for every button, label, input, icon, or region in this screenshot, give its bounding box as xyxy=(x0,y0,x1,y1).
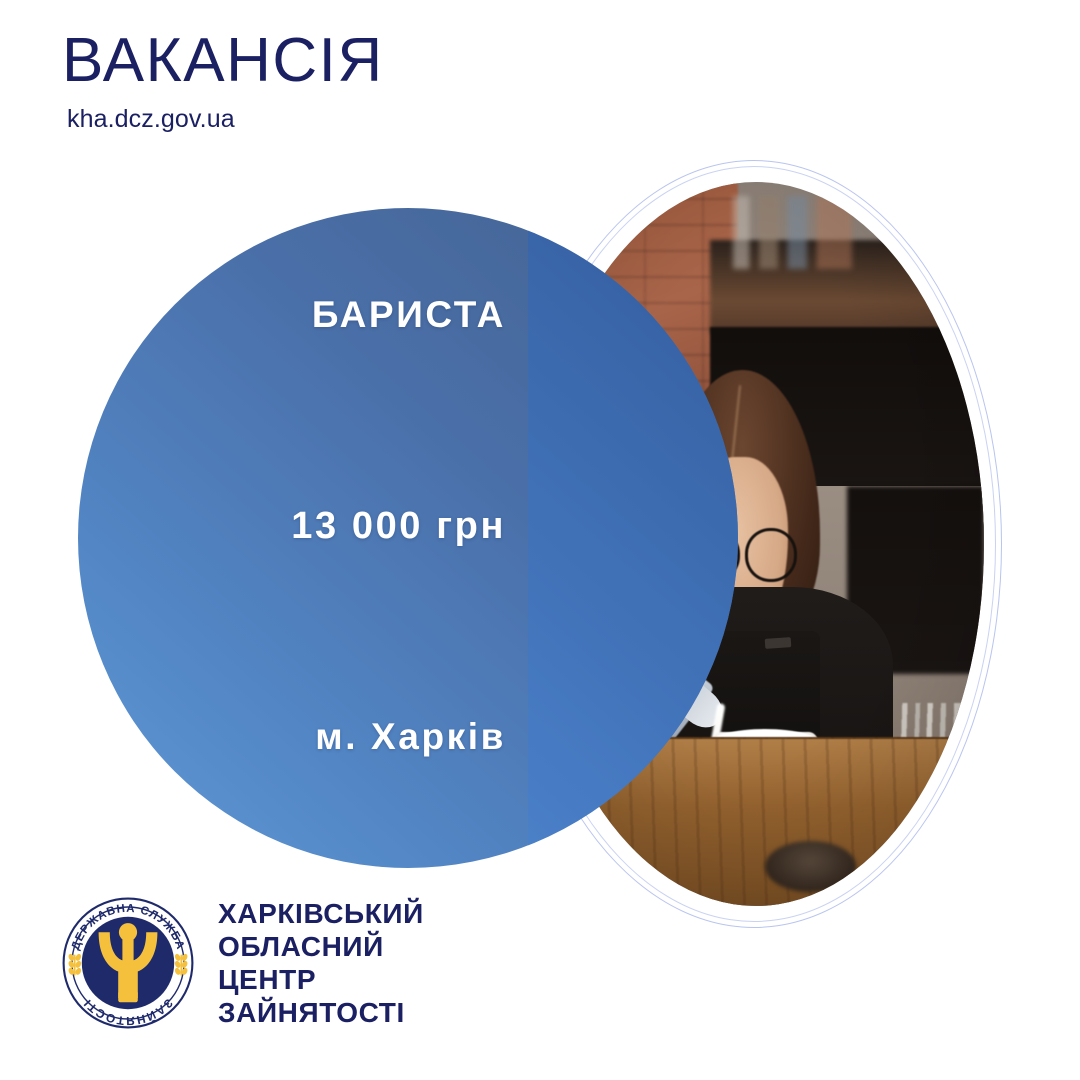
page-title: ВАКАНСІЯ xyxy=(62,28,384,93)
org-line-3: ЦЕНТР xyxy=(218,963,424,996)
header: ВАКАНСІЯ kha.dcz.gov.ua xyxy=(62,28,384,134)
organization-name: ХАРКІВСЬКИЙ ОБЛАСНИЙ ЦЕНТР ЗАЙНЯТОСТІ xyxy=(218,897,424,1029)
employment-service-logo-icon: ДЕРЖАВНА СЛУЖБА ЗАЙНЯТОСТІ xyxy=(58,893,198,1033)
footer: ДЕРЖАВНА СЛУЖБА ЗАЙНЯТОСТІ ХАРКІВСЬКИЙ О… xyxy=(58,893,424,1033)
wheat-ear-left-icon xyxy=(67,953,82,976)
poster-canvas: ВАКАНСІЯ kha.dcz.gov.ua xyxy=(0,0,1080,1080)
org-line-2: ОБЛАСНИЙ xyxy=(218,930,424,963)
org-line-4: ЗАЙНЯТОСТІ xyxy=(218,996,424,1029)
wheat-ear-right-icon xyxy=(174,953,189,976)
org-line-1: ХАРКІВСЬКИЙ xyxy=(218,897,424,930)
website-url[interactable]: kha.dcz.gov.ua xyxy=(67,105,384,134)
